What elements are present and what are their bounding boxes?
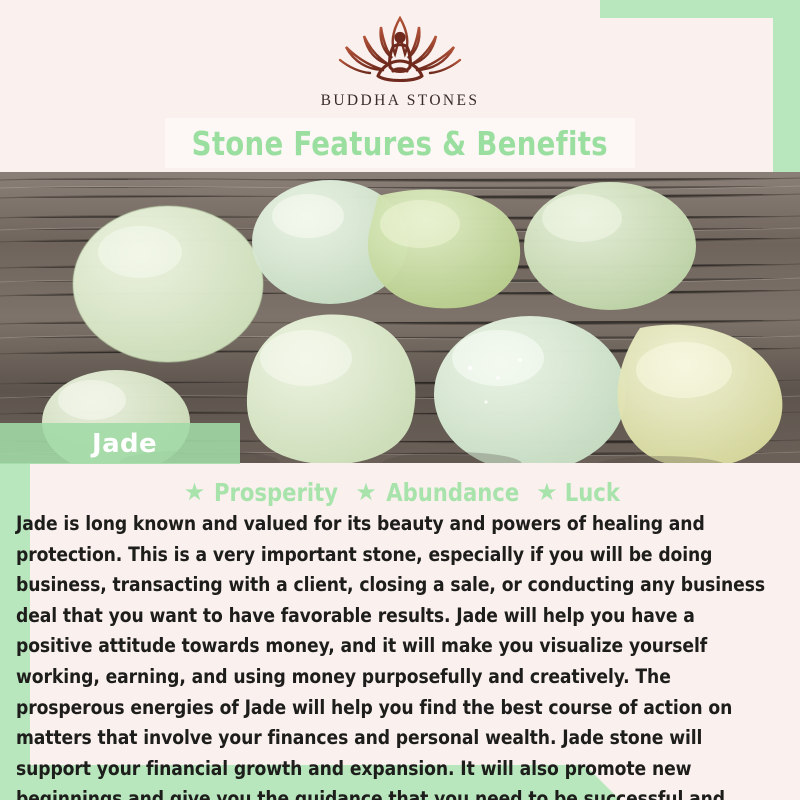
stone-photo-graphic <box>0 172 800 463</box>
stone-name: Jade <box>92 429 157 459</box>
keyword-row: ★Prosperity★Abundance★Luck <box>0 478 800 507</box>
keyword-abundance: Abundance <box>386 478 519 507</box>
page-title: Stone Features & Benefits <box>192 124 608 163</box>
stone-photo <box>0 172 800 463</box>
star-icon: ★ <box>536 478 558 507</box>
star-icon: ★ <box>355 478 377 507</box>
star-icon: ★ <box>184 478 206 507</box>
stone-description: Jade is long known and valued for its be… <box>16 509 774 800</box>
title-banner: Stone Features & Benefits <box>165 118 635 168</box>
brand-name: BUDDHA STONES <box>0 92 800 110</box>
lotus-meditation-icon <box>334 14 466 88</box>
brand-logo-block: BUDDHA STONES <box>0 14 800 110</box>
keyword-prosperity: Prosperity <box>214 478 338 507</box>
stone-name-band: Jade <box>0 423 240 464</box>
stone-info-card: BUDDHA STONES Stone Features & Benefits <box>0 0 800 800</box>
keyword-luck: Luck <box>564 478 619 507</box>
